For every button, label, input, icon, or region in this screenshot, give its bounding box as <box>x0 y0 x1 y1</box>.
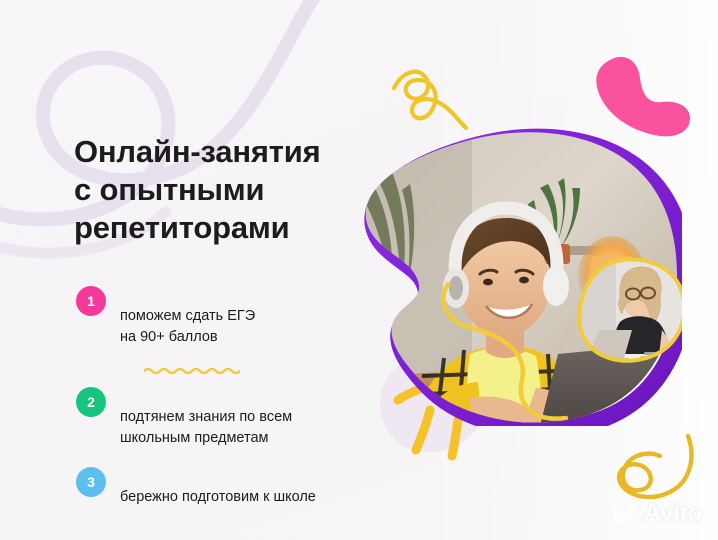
bullet-number-badge: 3 <box>76 467 106 497</box>
hero-photo <box>352 126 682 426</box>
bullet-text: подтянем знания по всем школьным предмет… <box>120 386 292 449</box>
bullet-label: подтянем знания по всем школьным предмет… <box>120 409 292 446</box>
list-item: 1 поможем сдать ЕГЭ на 90+ баллов <box>76 285 396 369</box>
list-item: 3 бережно подготовим к школе <box>76 466 396 508</box>
bullet-number-badge: 2 <box>76 387 106 417</box>
bullet-label: бережно подготовим к школе <box>120 489 316 505</box>
poster-root: Онлайн-занятия с опытными репетиторами 1… <box>0 0 718 540</box>
wavy-underline-icon <box>144 367 240 374</box>
bullet-number-badge: 1 <box>76 286 106 316</box>
bullet-label: поможем сдать ЕГЭ на 90+ баллов <box>120 308 255 345</box>
bullet-text: поможем сдать ЕГЭ на 90+ баллов <box>120 285 255 369</box>
page-title: Онлайн-занятия с опытными репетиторами <box>74 133 374 246</box>
bullet-text: бережно подготовим к школе <box>120 466 316 508</box>
hero-photo-svg <box>352 126 682 426</box>
list-item: 2 подтянем знания по всем школьным предм… <box>76 386 396 449</box>
benefits-list: 1 поможем сдать ЕГЭ на 90+ баллов 2 подт… <box>76 285 396 508</box>
